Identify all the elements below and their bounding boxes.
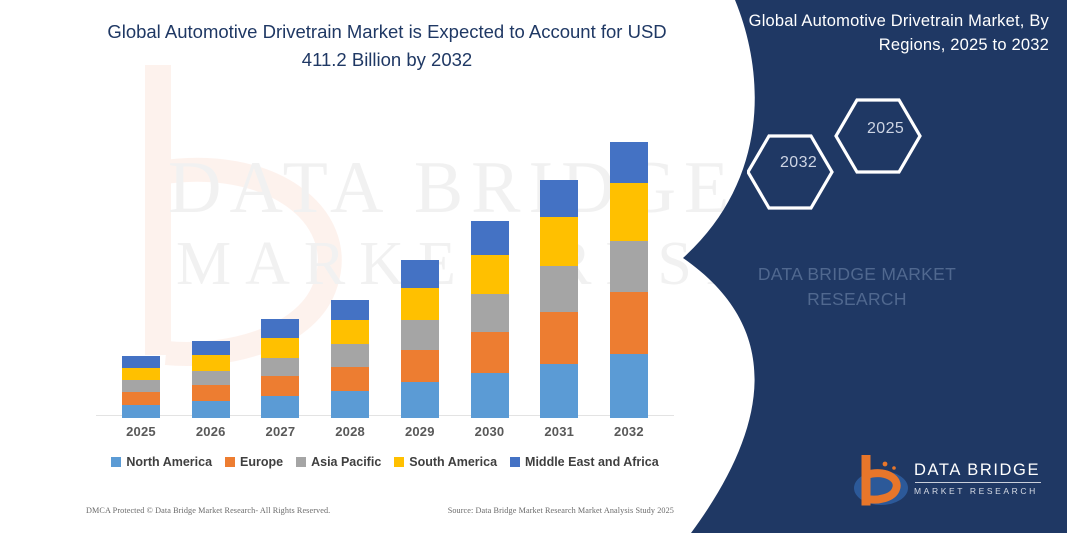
bar-segment (540, 180, 578, 217)
bar-segment (192, 385, 230, 401)
panel-brand-line-2: RESEARCH (647, 287, 1067, 312)
bar-segment (610, 354, 648, 418)
panel-brand-text: DATA BRIDGE MARKET RESEARCH (647, 262, 1067, 313)
x-axis-label: 2028 (319, 424, 381, 439)
bar-segment (261, 358, 299, 377)
bar-column (598, 118, 660, 418)
footer: DMCA Protected © Data Bridge Market Rese… (86, 506, 674, 515)
x-axis-labels: 20252026202720282029203020312032 (96, 424, 674, 439)
x-axis-label: 2025 (110, 424, 172, 439)
legend-swatch (296, 457, 306, 467)
bar-column (528, 118, 590, 418)
infographic-canvas: DATA BRIDGE MARKET RESEARCH Global Autom… (0, 0, 1067, 533)
bar-segment (540, 217, 578, 266)
bar-segment (540, 364, 578, 418)
bar-segment (192, 371, 230, 386)
bar-segment (192, 341, 230, 355)
stacked-bar (261, 319, 299, 418)
legend-item[interactable]: Europe (225, 455, 283, 469)
x-axis-label: 2030 (459, 424, 521, 439)
bar-segment (610, 183, 648, 240)
stacked-bar (471, 221, 509, 418)
bar-segment (261, 338, 299, 358)
bar-segment (261, 396, 299, 418)
legend-swatch (394, 457, 404, 467)
bar-segment (610, 241, 648, 292)
legend-label: Middle East and Africa (525, 455, 659, 469)
bar-segment (122, 392, 160, 405)
stacked-bar (122, 356, 160, 418)
bar-segment (261, 376, 299, 396)
stacked-bar (610, 142, 648, 418)
bar-segment (471, 373, 509, 418)
x-axis-label: 2029 (389, 424, 451, 439)
bridge-b-logo-icon (852, 455, 910, 507)
legend-label: South America (409, 455, 497, 469)
bar-column (249, 118, 311, 418)
bar-segment (122, 368, 160, 381)
bar-column (319, 118, 381, 418)
logo-sub-text: MARKET RESEARCH (914, 486, 1041, 496)
bar-segment (331, 344, 369, 367)
stacked-bar-chart (96, 118, 674, 418)
bar-segment (331, 367, 369, 392)
hex-label-2032: 2032 (780, 154, 817, 172)
hexagon-group: 2032 2025 (747, 92, 1017, 232)
legend-item[interactable]: Asia Pacific (296, 455, 381, 469)
bar-segment (122, 356, 160, 368)
bar-segment (401, 260, 439, 289)
x-axis-label: 2027 (249, 424, 311, 439)
bar-segment (401, 320, 439, 350)
panel-title: Global Automotive Drivetrain Market, By … (729, 10, 1049, 58)
company-logo: DATA BRIDGE MARKET RESEARCH (852, 455, 1047, 511)
x-axis-label: 2031 (528, 424, 590, 439)
bar-column (110, 118, 172, 418)
bar-segment (331, 320, 369, 344)
bar-segment (122, 380, 160, 392)
bar-column (389, 118, 451, 418)
footer-copyright: DMCA Protected © Data Bridge Market Rese… (86, 506, 330, 515)
bar-segment (331, 391, 369, 418)
bar-segment (471, 332, 509, 374)
legend-label: Europe (240, 455, 283, 469)
bar-segment (122, 405, 160, 418)
bar-segment (471, 294, 509, 332)
bar-segment (401, 382, 439, 418)
x-axis-label: 2026 (180, 424, 242, 439)
bar-segment (401, 350, 439, 383)
bar-column (180, 118, 242, 418)
legend-label: North America (126, 455, 212, 469)
navy-side-panel: Global Automotive Drivetrain Market, By … (647, 0, 1067, 533)
logo-text-block: DATA BRIDGE MARKET RESEARCH (914, 461, 1041, 496)
stacked-bar (540, 180, 578, 418)
bar-segment (540, 266, 578, 313)
chart-legend: North AmericaEuropeAsia PacificSouth Ame… (96, 455, 674, 469)
hex-label-2025: 2025 (867, 120, 904, 138)
chart-plot-area (96, 118, 674, 418)
legend-swatch (225, 457, 235, 467)
bar-segment (401, 288, 439, 320)
bar-segment (610, 142, 648, 184)
bar-segment (192, 401, 230, 418)
bar-segment (192, 355, 230, 371)
bar-segment (471, 221, 509, 255)
stacked-bar (401, 260, 439, 418)
bar-segment (540, 312, 578, 363)
bar-segment (261, 319, 299, 338)
bar-column (459, 118, 521, 418)
bar-segment (331, 300, 369, 320)
legend-swatch (510, 457, 520, 467)
panel-brand-line-1: DATA BRIDGE MARKET (647, 262, 1067, 287)
legend-swatch (111, 457, 121, 467)
x-axis-label: 2032 (598, 424, 660, 439)
legend-label: Asia Pacific (311, 455, 381, 469)
stacked-bar (192, 341, 230, 418)
legend-item[interactable]: Middle East and Africa (510, 455, 659, 469)
logo-main-text: DATA BRIDGE (914, 461, 1041, 479)
stacked-bar (331, 300, 369, 418)
logo-divider (915, 482, 1041, 483)
bar-segment (610, 292, 648, 353)
legend-item[interactable]: North America (111, 455, 212, 469)
footer-source: Source: Data Bridge Market Research Mark… (448, 506, 674, 515)
bar-segment (471, 255, 509, 295)
page-title: Global Automotive Drivetrain Market is E… (92, 18, 682, 74)
legend-item[interactable]: South America (394, 455, 497, 469)
